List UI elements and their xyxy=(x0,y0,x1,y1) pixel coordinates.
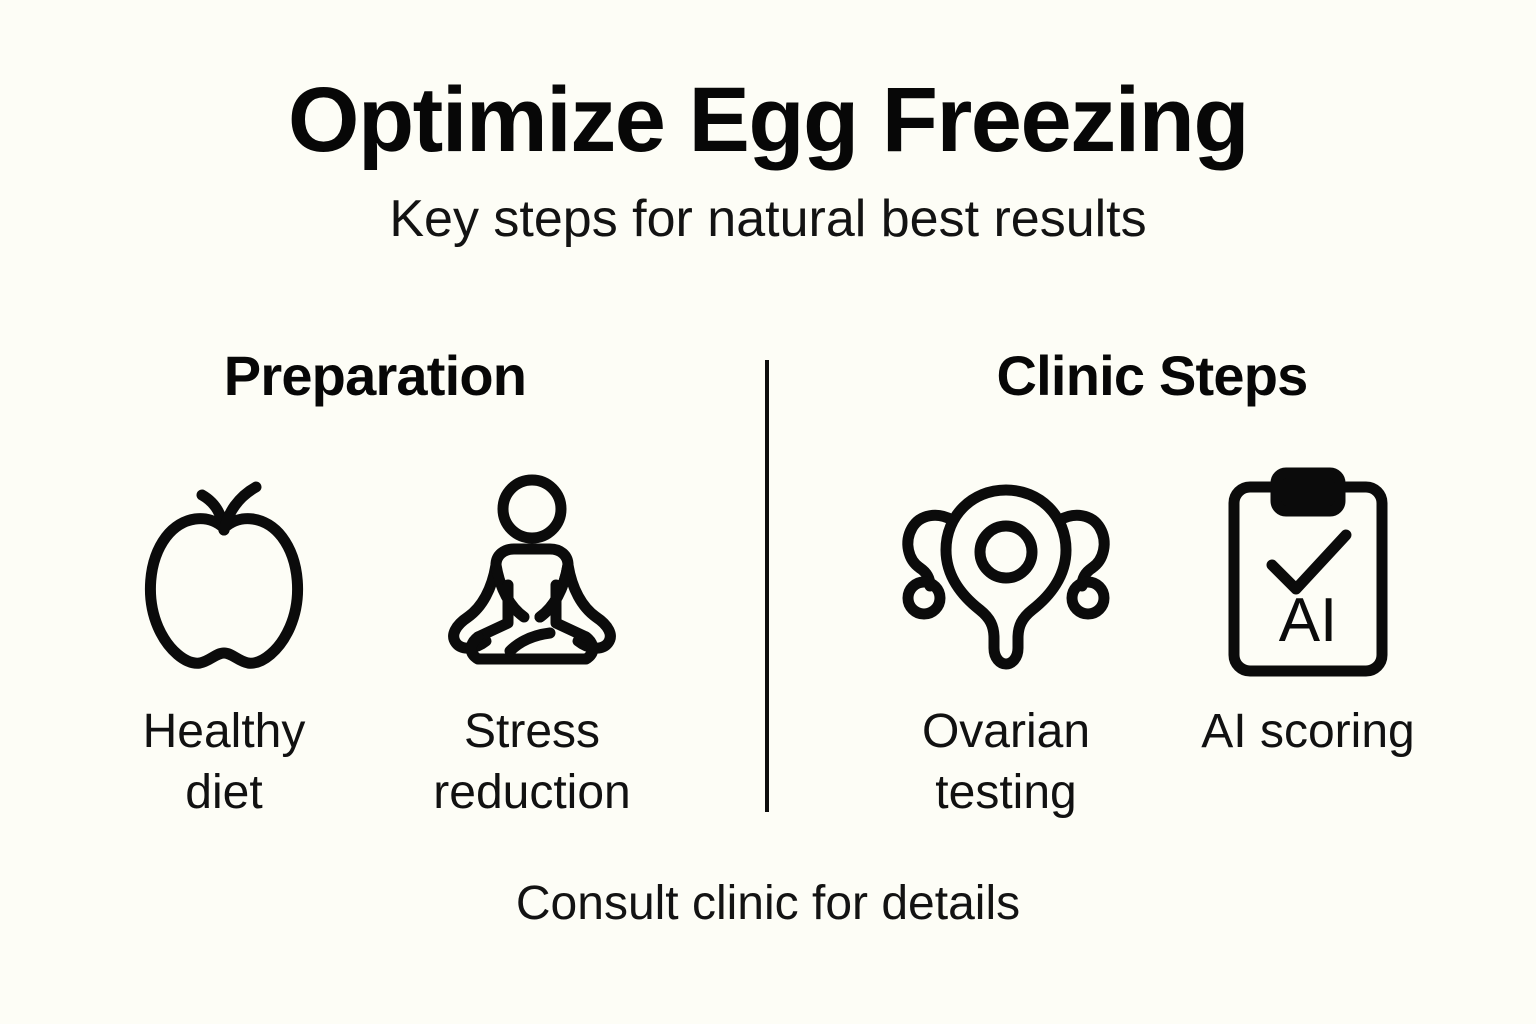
apple-icon xyxy=(124,470,324,675)
item-stress-reduction: Stress reduction xyxy=(417,470,647,824)
uterus-icon xyxy=(906,470,1106,675)
column-clinic-steps: Clinic Steps xyxy=(768,348,1536,828)
item-healthy-diet: Healthy diet xyxy=(109,470,339,824)
items-clinic-steps: Ovarian testing AI AI scoring xyxy=(891,470,1423,824)
poster-header: Optimize Egg Freezing Key steps for natu… xyxy=(0,72,1536,248)
items-preparation: Healthy diet xyxy=(109,470,647,824)
item-ai-scoring: AI AI scoring xyxy=(1193,470,1423,824)
meditation-icon xyxy=(432,470,632,675)
page-title: Optimize Egg Freezing xyxy=(0,72,1536,169)
clipboard-ai-label: AI xyxy=(1279,586,1338,655)
clipboard-ai-icon: AI xyxy=(1208,470,1408,675)
section-heading-preparation: Preparation xyxy=(224,348,526,404)
column-preparation: Preparation Healthy diet xyxy=(0,348,768,828)
infographic-poster: Optimize Egg Freezing Key steps for natu… xyxy=(0,0,1536,1024)
column-divider xyxy=(765,360,769,812)
footer-note: Consult clinic for details xyxy=(0,878,1536,931)
item-ovarian-testing: Ovarian testing xyxy=(891,470,1121,824)
item-label: Ovarian testing xyxy=(922,701,1090,824)
item-label: Healthy diet xyxy=(143,701,306,824)
page-subtitle: Key steps for natural best results xyxy=(0,191,1536,248)
section-heading-clinic-steps: Clinic Steps xyxy=(997,348,1308,404)
item-label: AI scoring xyxy=(1201,701,1414,762)
item-label: Stress reduction xyxy=(433,701,630,824)
